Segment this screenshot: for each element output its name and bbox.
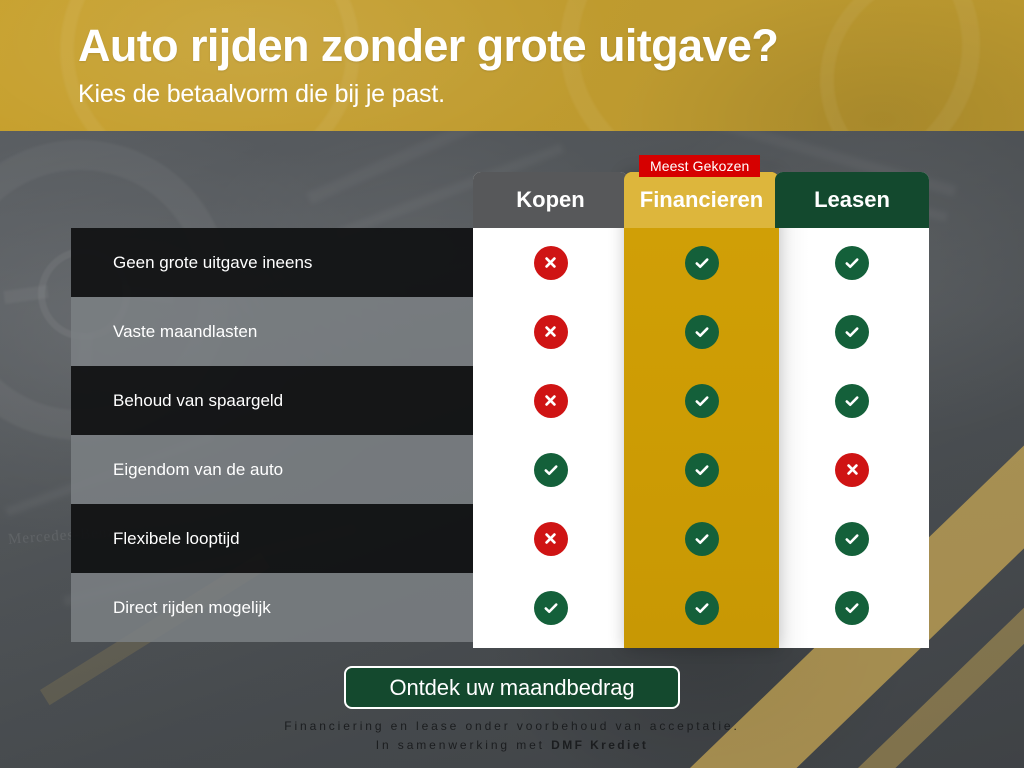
comparison-cell (775, 297, 929, 366)
banner-swoosh-decor (820, 0, 1024, 131)
footer-disclaimer: Financiering en lease onder voorbehoud v… (0, 717, 1024, 754)
footer-line-2: In samenwerking met DMF Krediet (0, 736, 1024, 754)
column-header-kopen-label: Kopen (516, 187, 584, 213)
comparison-cell (624, 435, 779, 504)
comparison-cell (624, 504, 779, 573)
column-header-financieren-label: Financieren (640, 187, 763, 213)
comparison-cell (624, 366, 779, 435)
comparison-cell (624, 573, 779, 642)
header-banner: Auto rijden zonder grote uitgave? Kies d… (0, 0, 1024, 131)
cta-label: Ontdek uw maandbedrag (390, 675, 635, 701)
feature-label: Direct rijden mogelijk (71, 573, 473, 642)
check-icon (685, 453, 719, 487)
comparison-cell (624, 297, 779, 366)
check-icon (685, 246, 719, 280)
check-icon (835, 591, 869, 625)
column-header-leasen[interactable]: Leasen (775, 172, 929, 228)
comparison-cell (775, 228, 929, 297)
table-row: Eigendom van de auto (71, 435, 929, 504)
comparison-cell (775, 573, 929, 642)
page-title: Auto rijden zonder grote uitgave? (78, 20, 778, 72)
cross-icon (534, 315, 568, 349)
column-header-leasen-label: Leasen (814, 187, 890, 213)
footer-line-2-prefix: In samenwerking met (376, 738, 551, 752)
table-row: Behoud van spaargeld (71, 366, 929, 435)
feature-label: Vaste maandlasten (71, 297, 473, 366)
table-row: Flexibele looptijd (71, 504, 929, 573)
table-row: Geen grote uitgave ineens (71, 228, 929, 297)
cross-icon (835, 453, 869, 487)
promo-banner-page: Mercedes-Benz Auto rijden zonder grote u… (0, 0, 1024, 768)
comparison-cell (775, 366, 929, 435)
most-chosen-badge-label: Meest Gekozen (650, 158, 749, 174)
comparison-cell (473, 366, 628, 435)
check-icon (685, 591, 719, 625)
table-row: Vaste maandlasten (71, 297, 929, 366)
feature-label: Flexibele looptijd (71, 504, 473, 573)
comparison-table: Kopen Financieren Leasen Meest Gekozen G… (71, 155, 929, 648)
comparison-cell (473, 435, 628, 504)
comparison-rows: Geen grote uitgave ineensVaste maandlast… (71, 228, 929, 642)
comparison-cell (473, 573, 628, 642)
check-icon (835, 522, 869, 556)
check-icon (835, 246, 869, 280)
check-icon (534, 453, 568, 487)
column-header-kopen[interactable]: Kopen (473, 172, 628, 228)
footer-line-1: Financiering en lease onder voorbehoud v… (0, 717, 1024, 735)
check-icon (685, 384, 719, 418)
comparison-cell (473, 228, 628, 297)
cross-icon (534, 384, 568, 418)
feature-label: Behoud van spaargeld (71, 366, 473, 435)
feature-label: Geen grote uitgave ineens (71, 228, 473, 297)
comparison-cell (624, 228, 779, 297)
cross-icon (534, 522, 568, 556)
cross-icon (534, 246, 568, 280)
check-icon (685, 315, 719, 349)
comparison-cell (473, 297, 628, 366)
check-icon (534, 591, 568, 625)
page-subtitle: Kies de betaalvorm die bij je past. (78, 80, 445, 109)
check-icon (685, 522, 719, 556)
most-chosen-badge: Meest Gekozen (639, 155, 760, 177)
check-icon (835, 384, 869, 418)
discover-monthly-amount-button[interactable]: Ontdek uw maandbedrag (344, 666, 680, 709)
table-row: Direct rijden mogelijk (71, 573, 929, 642)
footer-partner-name: DMF Krediet (551, 738, 648, 752)
feature-label: Eigendom van de auto (71, 435, 473, 504)
comparison-cell (775, 435, 929, 504)
check-icon (835, 315, 869, 349)
comparison-cell (775, 504, 929, 573)
comparison-cell (473, 504, 628, 573)
column-header-financieren[interactable]: Financieren (624, 172, 779, 228)
